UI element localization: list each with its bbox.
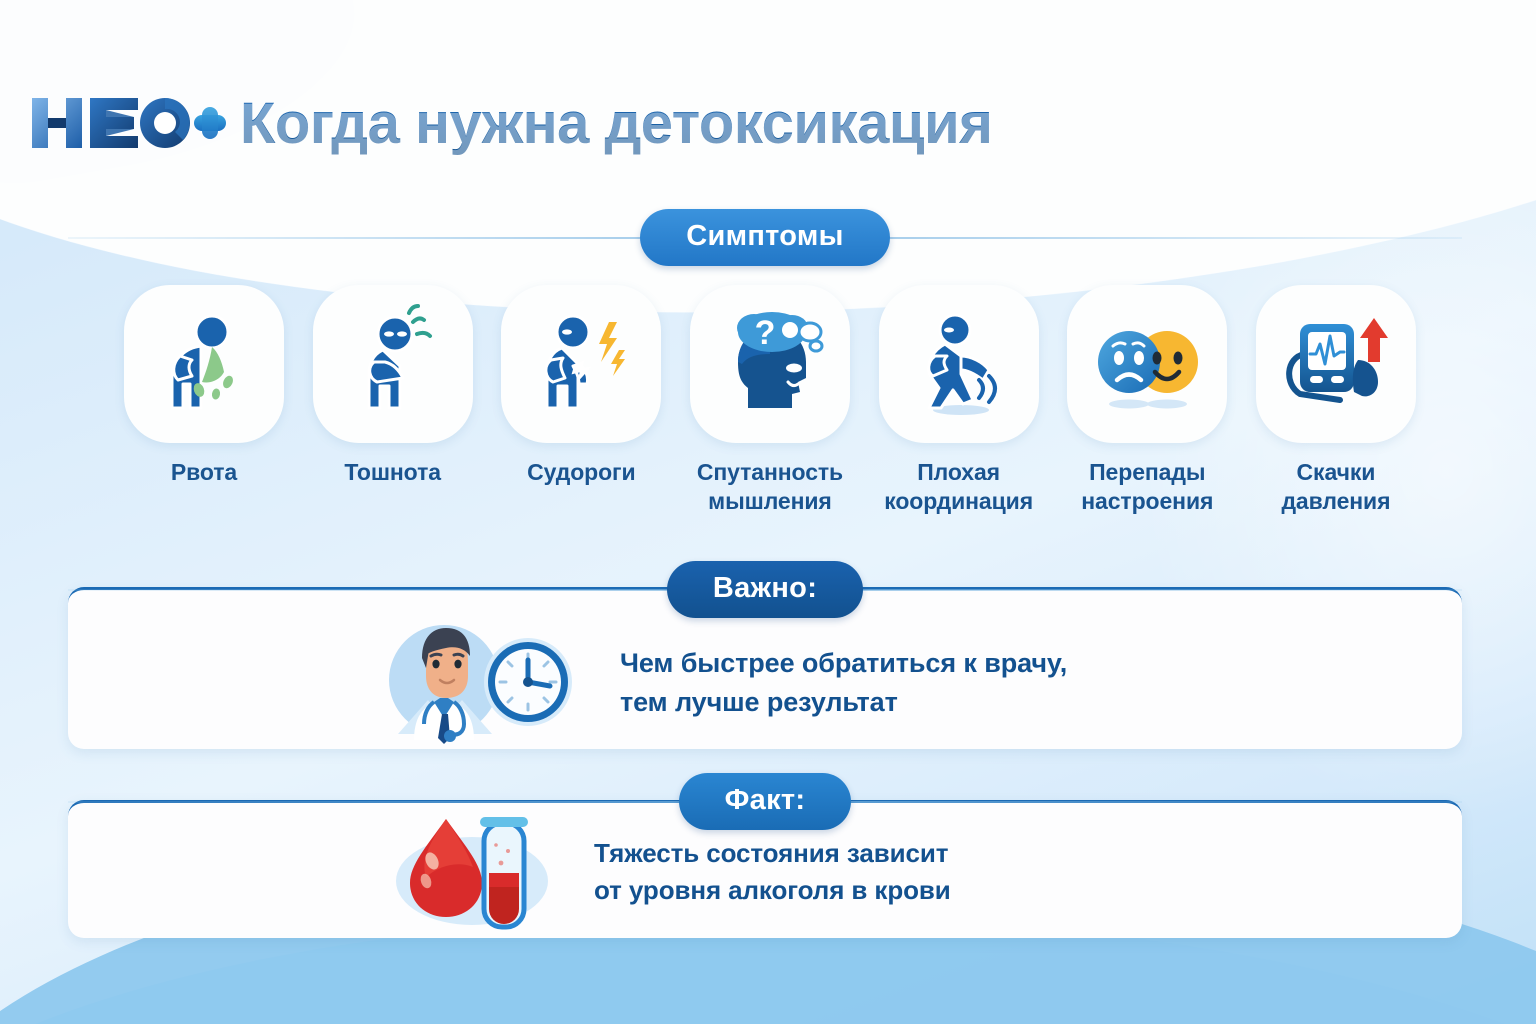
symptom-label: Рвота	[171, 458, 237, 487]
fact-badge: Факт:	[679, 773, 852, 830]
svg-text:?: ?	[755, 314, 776, 352]
important-text: Чем быстрее обратиться к врачу, тем лучш…	[620, 644, 1067, 721]
symptoms-badge: Симптомы	[640, 209, 890, 266]
fact-section-heading: Факт:	[68, 775, 1462, 827]
cramps-person-icon	[521, 304, 641, 424]
symptoms-section-heading: Симптомы	[68, 211, 1462, 263]
infographic-canvas: Когда нужна детоксикация Симптомы	[0, 0, 1536, 1024]
symptom-icon-card	[1256, 285, 1416, 443]
symptom-icon-card	[1067, 285, 1227, 443]
symptom-item-blood-pressure[interactable]: Скачки давления	[1252, 285, 1420, 516]
symptom-icon-card	[501, 285, 661, 443]
vomiting-person-icon	[144, 304, 264, 424]
symptom-icon-card	[124, 285, 284, 443]
doctor-clock-icon	[378, 610, 598, 750]
doctor-with-clock-illustration	[378, 610, 598, 755]
fact-text: Тяжесть состояния зависит от уровня алко…	[594, 835, 951, 909]
symptom-item-mood-swings[interactable]: Перепады настроения	[1063, 285, 1231, 516]
blood-pressure-monitor-icon	[1274, 304, 1398, 424]
symptom-icon-card	[313, 285, 473, 443]
important-card-content: Чем быстрее обратиться к врачу, тем лучш…	[378, 610, 1067, 755]
page-title: Когда нужна детоксикация	[240, 90, 992, 157]
neo-plus-logo-icon	[30, 92, 226, 154]
symptom-label: Спутанность мышления	[697, 458, 843, 516]
symptom-item-vomiting[interactable]: Рвота	[120, 285, 288, 516]
symptom-label: Судороги	[527, 458, 636, 487]
nausea-person-icon	[333, 304, 453, 424]
brand-logo	[30, 92, 226, 154]
symptom-label: Скачки давления	[1281, 458, 1390, 516]
mood-swings-faces-icon	[1085, 304, 1209, 424]
important-badge: Важно:	[667, 561, 863, 618]
symptom-label: Тошнота	[344, 458, 441, 487]
symptom-item-nausea[interactable]: Тошнота	[309, 285, 477, 516]
symptom-item-confusion[interactable]: ? Спутанность мышления	[686, 285, 854, 516]
poor-coordination-icon	[899, 304, 1019, 424]
symptom-item-coordination[interactable]: Плохая координация	[875, 285, 1043, 516]
symptom-icon-card: ?	[690, 285, 850, 443]
symptom-label: Перепады настроения	[1081, 458, 1213, 516]
symptom-icon-card	[879, 285, 1039, 443]
page-header: Когда нужна детоксикация	[0, 78, 1536, 168]
confused-head-icon: ?	[708, 304, 832, 424]
symptom-label: Плохая координация	[884, 458, 1033, 516]
important-section-heading: Важно:	[68, 563, 1462, 615]
symptom-item-cramps[interactable]: Судороги	[497, 285, 665, 516]
symptoms-row: Рвота	[120, 285, 1420, 516]
